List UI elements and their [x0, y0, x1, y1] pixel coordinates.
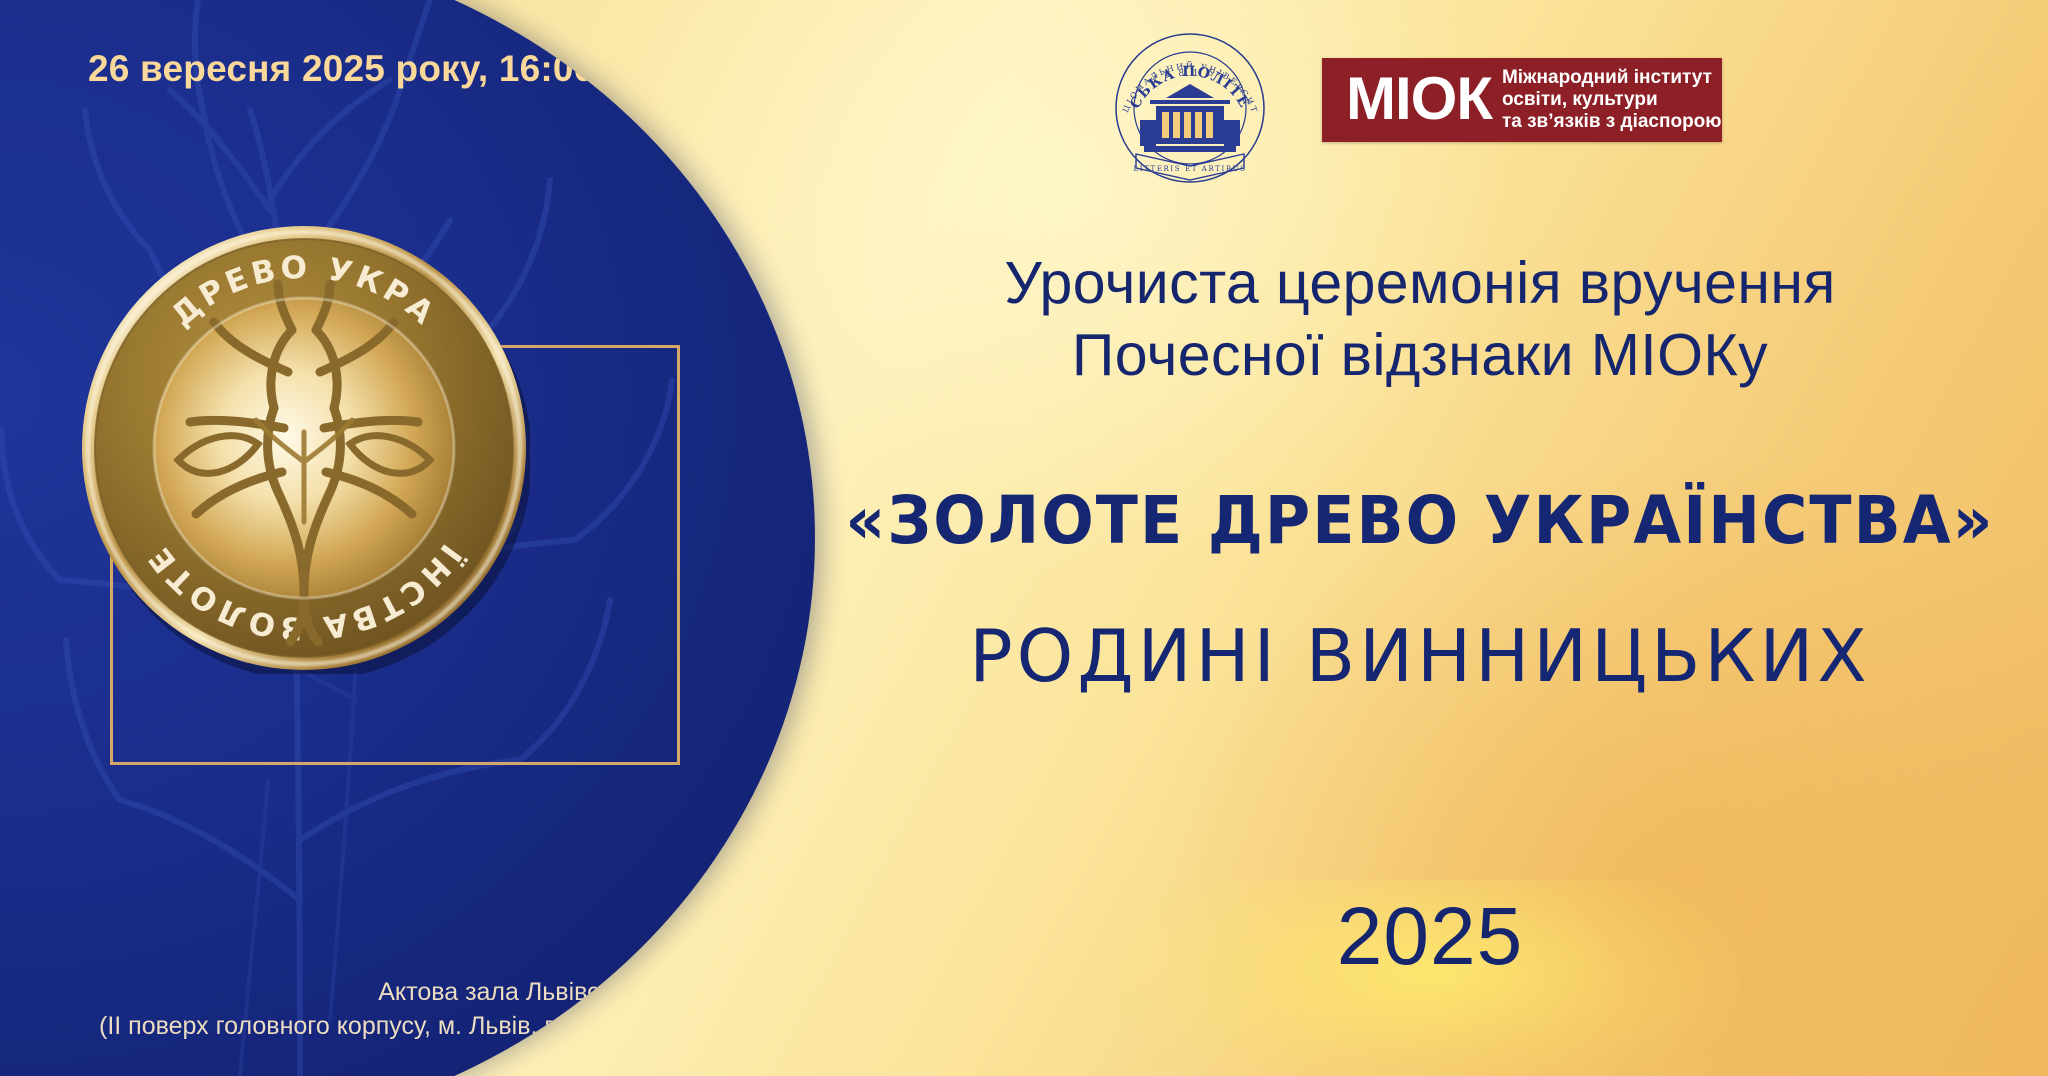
- event-poster: ДРЕВО УКРА ЇНСТВА ЗОЛОТЕ: [0, 0, 2048, 1076]
- event-datetime: 26 вересня 2025 року, 16:00: [88, 48, 594, 90]
- miok-abbreviation: МІОК: [1346, 69, 1492, 129]
- miok-subtitle-line-2: освіти, культури: [1502, 89, 1722, 111]
- award-recipient: РОДИНІ ВИННИЦЬКИХ: [820, 620, 2020, 692]
- blue-left-panel: ДРЕВО УКРА ЇНСТВА ЗОЛОТЕ: [0, 0, 815, 1076]
- venue-line-1: Актова зала Львівської політехніки: [20, 976, 780, 1010]
- ceremony-heading: Урочиста церемонія вручення Почесної від…: [840, 248, 2000, 392]
- miok-logo: МІОК Міжнародний інститут освіти, культу…: [1322, 58, 1722, 142]
- award-medal-icon: ДРЕВО УКРА ЇНСТВА ЗОЛОТЕ: [78, 222, 530, 674]
- miok-subtitle-line-1: Міжнародний інститут: [1502, 67, 1722, 89]
- miok-subtitle: Міжнародний інститут освіти, культури та…: [1502, 67, 1722, 134]
- event-year: 2025: [1120, 890, 1740, 984]
- venue-line-2: (ІІ поверх головного корпусу, м. Львів, …: [20, 1010, 780, 1044]
- ceremony-line-2: Почесної відзнаки МІОКу: [840, 320, 2000, 392]
- svg-text:· 1 8 1 6 ·: · 1 8 1 6 ·: [1152, 69, 1228, 79]
- miok-subtitle-line-3: та зв’язків з діаспорою: [1502, 111, 1722, 133]
- venue-block: Актова зала Львівської політехніки (ІІ п…: [20, 976, 780, 1043]
- svg-text:LITTERIS ET ARTIBUS: LITTERIS ET ARTIBUS: [1134, 165, 1247, 173]
- ceremony-line-1: Урочиста церемонія вручення: [840, 248, 2000, 320]
- lviv-polytechnic-seal-icon: НАЦІОНАЛЬНИЙ УНІВЕРСИТЕТ ЛЬВІВСЬКА ПОЛІТ…: [1110, 28, 1270, 188]
- award-title: «ЗОЛОТЕ ДРЕВО УКРАЇНСТВА»: [796, 488, 2044, 554]
